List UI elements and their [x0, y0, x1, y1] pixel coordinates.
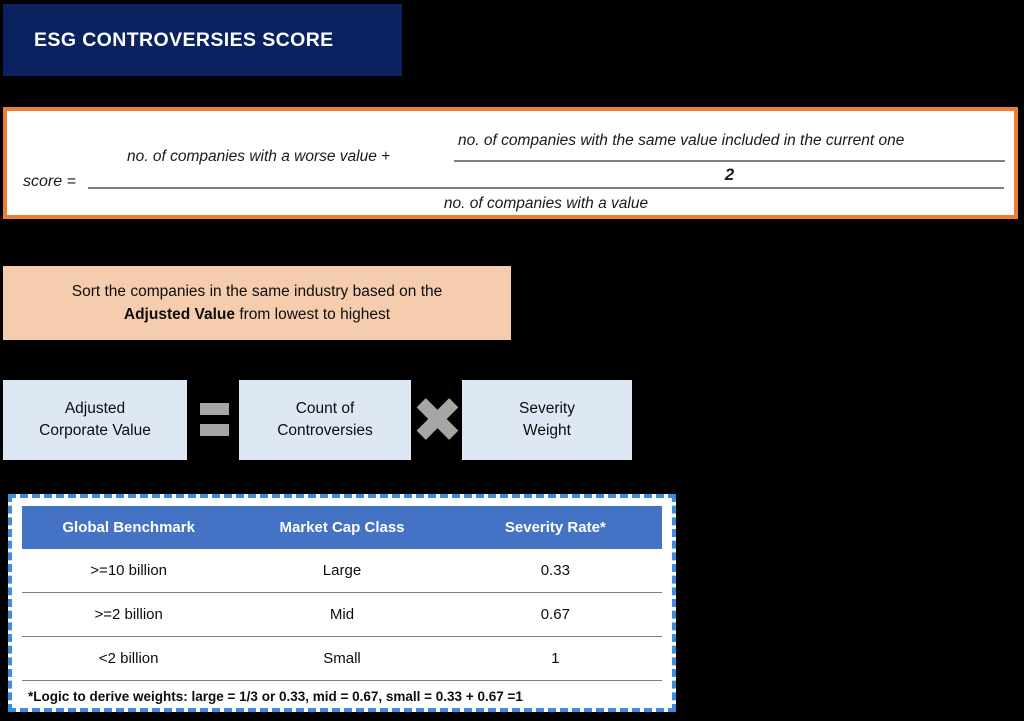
severity-weight-line1: Severity	[519, 400, 575, 417]
count-of-controversies-box: Count of Controversies	[239, 380, 411, 460]
adjusted-value-equation: Adjusted Corporate Value Count of Contro…	[3, 380, 633, 460]
formula-inner-numerator: no. of companies with the same value inc…	[458, 132, 904, 150]
cell-severity-rate: 0.33	[449, 549, 662, 593]
multiply-icon	[418, 398, 456, 440]
cell-global-benchmark: >=10 billion	[22, 549, 235, 593]
cell-severity-rate: 1	[449, 637, 662, 681]
table-footnote: *Logic to derive weights: large = 1/3 or…	[22, 681, 662, 704]
severity-rate-table-container: Global Benchmark Market Cap Class Severi…	[8, 494, 676, 712]
table-body: >=10 billion Large 0.33 >=2 billion Mid …	[22, 549, 662, 681]
page-title: ESG CONTROVERSIES SCORE	[3, 29, 334, 52]
severity-weight-line2: Weight	[523, 422, 571, 439]
sort-instruction-line1: Sort the companies in the same industry …	[72, 283, 443, 300]
cell-global-benchmark: <2 billion	[22, 637, 235, 681]
cell-market-cap-class: Mid	[235, 593, 448, 637]
sort-instruction-text: Sort the companies in the same industry …	[72, 280, 443, 327]
column-header-severity-rate: Severity Rate*	[449, 506, 662, 549]
column-header-global-benchmark: Global Benchmark	[22, 506, 235, 549]
adjusted-corporate-value-line2: Corporate Value	[39, 422, 151, 439]
table-row: >=2 billion Mid 0.67	[22, 593, 662, 637]
score-formula-panel: score = no. of companies with a worse va…	[3, 107, 1018, 219]
page-title-banner: ESG CONTROVERSIES SCORE	[3, 4, 402, 76]
formula-left-numerator: no. of companies with a worse value +	[127, 148, 390, 166]
sort-instruction-bold-phrase: Adjusted Value	[124, 306, 235, 323]
sort-instruction-line2-tail: from lowest to highest	[235, 306, 390, 323]
cell-severity-rate: 0.67	[449, 593, 662, 637]
severity-weight-label: Severity Weight	[519, 398, 575, 443]
formula-inner-fraction-bar	[454, 160, 1005, 162]
cell-global-benchmark: >=2 billion	[22, 593, 235, 637]
column-header-market-cap-class: Market Cap Class	[235, 506, 448, 549]
score-formula: score = no. of companies with a worse va…	[7, 111, 1014, 215]
count-of-controversies-line2: Controversies	[277, 422, 373, 439]
formula-inner-denominator: 2	[454, 165, 1005, 185]
adjusted-corporate-value-box: Adjusted Corporate Value	[3, 380, 187, 460]
table-row: >=10 billion Large 0.33	[22, 549, 662, 593]
formula-main-denominator: no. of companies with a value	[88, 195, 1004, 213]
table-row: <2 billion Small 1	[22, 637, 662, 681]
adjusted-corporate-value-line1: Adjusted	[65, 400, 125, 417]
count-of-controversies-line1: Count of	[296, 400, 355, 417]
count-of-controversies-label: Count of Controversies	[277, 398, 373, 443]
table-header-row: Global Benchmark Market Cap Class Severi…	[22, 506, 662, 549]
adjusted-corporate-value-label: Adjusted Corporate Value	[39, 398, 151, 443]
severity-rate-table-card: Global Benchmark Market Cap Class Severi…	[22, 506, 662, 704]
cell-market-cap-class: Large	[235, 549, 448, 593]
severity-rate-table: Global Benchmark Market Cap Class Severi…	[22, 506, 662, 681]
formula-main-fraction-bar	[88, 187, 1004, 189]
sort-instruction-box: Sort the companies in the same industry …	[3, 266, 511, 340]
severity-weight-box: Severity Weight	[462, 380, 632, 460]
cell-market-cap-class: Small	[235, 637, 448, 681]
equals-icon	[200, 403, 229, 437]
formula-score-label: score =	[23, 173, 76, 191]
